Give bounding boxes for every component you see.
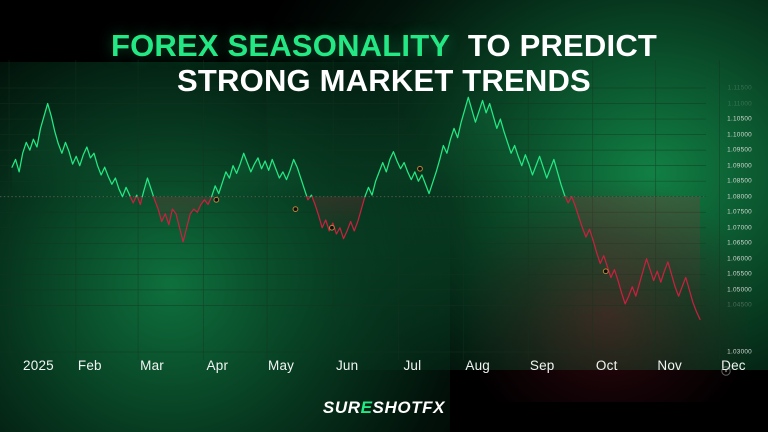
crosshair-icon[interactable]	[720, 364, 732, 376]
poster-canvas: 1.115001.110001.105001.100001.095001.090…	[0, 0, 768, 432]
month-tick-aug: Aug	[465, 358, 490, 373]
month-tick-feb: Feb	[78, 358, 102, 373]
month-tick-mar: Mar	[140, 358, 164, 373]
swing-marker-3	[330, 225, 335, 230]
month-tick-jul: Jul	[403, 358, 421, 373]
swing-marker-5	[603, 269, 608, 274]
month-tick-jun: Jun	[336, 358, 358, 373]
time-axis: 2025FebMarAprMayJunJulAugSepOctNovDec	[0, 358, 768, 384]
month-tick-apr: Apr	[207, 358, 229, 373]
month-tick-oct: Oct	[596, 358, 618, 373]
brand-logo: SURESHOTFX	[0, 398, 768, 418]
swing-marker-1	[214, 197, 219, 202]
month-tick-may: May	[268, 358, 294, 373]
month-tick-nov: Nov	[657, 358, 682, 373]
brand-logo-text: SURESHOTFX	[323, 398, 445, 418]
brand-suffix: SHOTFX	[373, 398, 446, 417]
month-tick-2025: 2025	[23, 358, 54, 373]
brand-accent-letter: E	[361, 398, 373, 417]
month-tick-sep: Sep	[530, 358, 555, 373]
swing-marker-2	[293, 207, 298, 212]
brand-prefix: SUR	[323, 398, 361, 417]
chart-area-fills	[12, 97, 700, 319]
swing-marker-4	[418, 166, 423, 171]
